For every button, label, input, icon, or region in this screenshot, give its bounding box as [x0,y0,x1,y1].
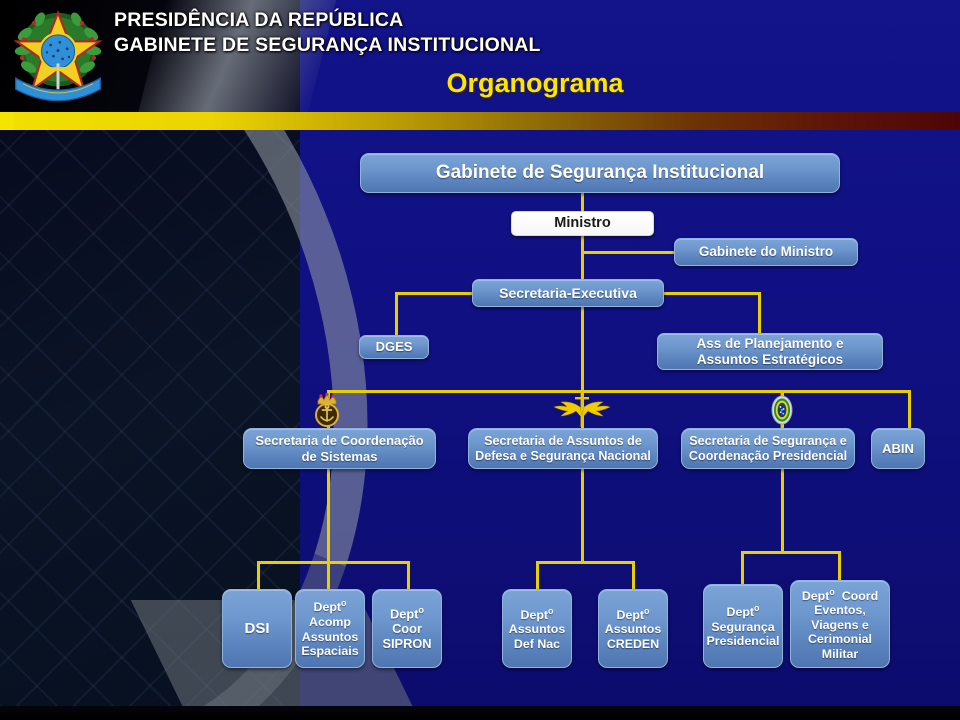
connector-secretariat-bus [327,390,911,393]
box-dept-assuntos-def-nac[interactable]: Depto Assuntos Def Nac [502,589,572,668]
dept-superscript-label: Depto [521,606,554,623]
navy-anchor-crown-emblem-icon [313,392,341,428]
dept-superscript-label: Depto [314,598,347,615]
connector-group3-to-segpres [741,551,744,584]
dept-superscript-label: Depto [727,603,760,620]
connector-group1-bus [257,561,410,564]
connector-group2-to-creden [632,561,635,590]
box-secretaria-executiva[interactable]: Secretaria-Executiva [472,279,664,307]
box-gabinete-do-ministro[interactable]: Gabinete do Ministro [674,238,858,266]
box-dept-seguranca-presidencial[interactable]: Depto Segurança Presidencial [703,584,783,668]
dept-superscript-label: Depto [390,605,424,622]
air-force-wings-emblem-icon [554,389,610,429]
connector-secexec-down [581,306,584,393]
connector-bus-to-abin [908,390,911,430]
connector-group2-to-defnac [536,561,539,590]
box-dept-acomp-assuntos-espaciais[interactable]: Depto Acomp Assuntos Espaciais [295,589,365,668]
connector-sec2-down [581,468,584,561]
connector-group1-to-acomp [327,561,330,590]
box-secretaria-seguranca-coordenacao-presidencial[interactable]: Secretaria de Segurança e Coordenação Pr… [681,428,855,469]
connector-sec1-down [327,468,330,561]
footer-strip [0,706,960,720]
header-line-gabinete: GABINETE DE SEGURANÇA INSTITUCIONAL [114,33,541,58]
box-ass-planejamento-assuntos-estrategicos[interactable]: Ass de Planejamento e Assuntos Estratégi… [657,333,883,370]
connector-group1-to-sipron [407,561,410,590]
box-dept-assuntos-creden[interactable]: Depto Assuntos CREDEN [598,589,668,668]
box-dges[interactable]: DGES [359,335,429,359]
box-secretaria-coordenacao-sistemas[interactable]: Secretaria de Coordenação de Sistemas [243,428,436,469]
connector-group3-bus [741,551,840,554]
box-secretaria-assuntos-defesa-seguranca-nacional[interactable]: Secretaria de Assuntos de Defesa e Segur… [468,428,658,469]
connector-sec3-down [781,468,784,551]
connector-group3-to-eventos [838,551,841,580]
slide-canvas: PRESIDÊNCIA DA REPÚBLICA GABINETE DE SEG… [0,0,960,720]
dept-superscript-label: Depto [617,606,650,623]
dept-superscript-label: Depto Coord [802,587,878,604]
connector-secexec-to-dges-v [395,292,398,335]
connector-group2-bus [536,561,635,564]
header-titles: PRESIDÊNCIA DA REPÚBLICA GABINETE DE SEG… [114,8,541,58]
header-line-presidencia: PRESIDÊNCIA DA REPÚBLICA [114,8,541,33]
box-abin[interactable]: ABIN [871,428,925,469]
army-oval-emblem-icon [769,390,795,430]
connector-secexec-to-planning-h [663,292,761,295]
connector-secexec-to-planning-v [758,292,761,334]
box-ministro[interactable]: Ministro [511,211,654,236]
box-dept-coor-sipron[interactable]: Depto Coor SIPRON [372,589,442,668]
box-dept-coord-eventos-viagens-cerimonial-militar[interactable]: Depto Coord Eventos, Viagens e Cerimonia… [790,580,890,668]
box-root-gabinete-seguranca-institucional[interactable]: Gabinete de Segurança Institucional [360,153,840,193]
gold-divider-band-left-cap [0,112,14,130]
box-dsi[interactable]: DSI [222,589,292,668]
gold-divider-band [0,112,960,130]
page-title: Organograma [0,68,960,99]
connector-group1-to-dsi [257,561,260,590]
connector-minister-to-gabinete-h [581,251,675,254]
